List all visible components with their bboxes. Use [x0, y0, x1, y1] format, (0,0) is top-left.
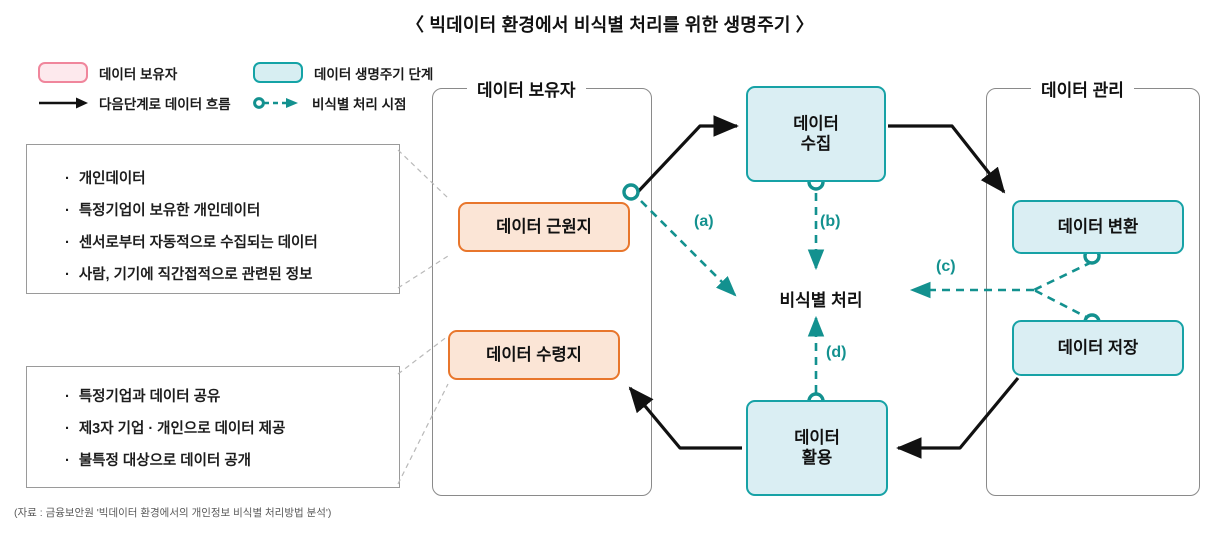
node-label: 데이터 수령지	[486, 345, 582, 365]
list-item: 개인데이터	[65, 167, 399, 188]
list-item: 사람, 기기에 직간접적으로 관련된 정보	[65, 263, 399, 284]
legend-item-data-owner: 데이터 보유자	[38, 62, 177, 83]
list-item: 불특정 대상으로 데이터 공개	[65, 449, 399, 470]
legend-item-data-flow: 다음단계로 데이터 흐름	[38, 93, 231, 113]
step-label-a: (a)	[694, 213, 714, 231]
node-label: 데이터 활용	[794, 428, 840, 468]
legend-label-lifecycle-stage: 데이터 생명주기 단계	[314, 63, 433, 83]
node-data-storage[interactable]: 데이터 저장	[1012, 320, 1184, 376]
step-label-b: (b)	[820, 213, 840, 231]
legend-item-lifecycle-stage: 데이터 생명주기 단계	[253, 62, 433, 83]
legend-label-deid-point: 비식별 처리 시점	[312, 93, 406, 113]
pink-rounded-box-swatch-icon	[38, 62, 88, 83]
step-label-c: (c)	[936, 258, 956, 276]
callout-data-receiver-details: 특정기업과 데이터 공유 제3자 기업 · 개인으로 데이터 제공 불특정 대상…	[26, 366, 400, 488]
list-item: 제3자 기업 · 개인으로 데이터 제공	[65, 417, 399, 438]
legend-item-deid-point: 비식별 처리 시점	[253, 93, 406, 113]
node-label-line1: 데이터	[793, 115, 839, 133]
node-label: 데이터 저장	[1058, 338, 1138, 358]
node-data-transformation[interactable]: 데이터 변환	[1012, 200, 1184, 254]
node-label: 데이터 근원지	[496, 217, 592, 237]
legend-label-data-owner: 데이터 보유자	[99, 63, 177, 83]
node-label: 데이터 수집	[793, 114, 839, 154]
group-title-data-management: 데이터 관리	[1031, 76, 1134, 101]
list-item: 특정기업이 보유한 개인데이터	[65, 199, 399, 220]
node-label-line2: 수집	[801, 135, 831, 153]
list-item: 특정기업과 데이터 공유	[65, 385, 399, 406]
deid-arrow-a	[641, 201, 735, 295]
legend-label-data-flow: 다음단계로 데이터 흐름	[99, 93, 231, 113]
page-title: 〈 빅데이터 환경에서 비식별 처리를 위한 생명주기 〉	[0, 11, 1220, 37]
group-frame-data-owner: 데이터 보유자	[432, 88, 652, 496]
callout-data-source-details: 개인데이터 특정기업이 보유한 개인데이터 센서로부터 자동적으로 수집되는 데…	[26, 144, 400, 294]
node-data-utilization[interactable]: 데이터 활용	[746, 400, 888, 496]
list-item: 센서로부터 자동적으로 수집되는 데이터	[65, 231, 399, 252]
step-label-d: (d)	[826, 344, 846, 362]
node-label-line1: 데이터	[794, 429, 840, 447]
center-label-deidentification: 비식별 처리	[746, 286, 896, 311]
legend: 데이터 보유자 데이터 생명주기 단계 다음단계로 데이터 흐름 비식별 처리 …	[38, 62, 468, 120]
source-citation: (자료 : 금융보안원 '빅데이터 환경에서의 개인정보 비식별 처리방법 분석…	[14, 505, 331, 520]
black-solid-arrow-icon	[38, 96, 88, 110]
group-frame-data-management: 데이터 관리	[986, 88, 1200, 496]
node-data-receiver[interactable]: 데이터 수령지	[448, 330, 620, 380]
node-label-line2: 활용	[802, 449, 832, 467]
group-title-data-owner: 데이터 보유자	[467, 76, 586, 101]
teal-rounded-box-swatch-icon	[253, 62, 303, 83]
node-data-collection[interactable]: 데이터 수집	[746, 86, 886, 182]
teal-dashed-arrow-with-circle-icon	[253, 96, 301, 110]
node-label: 데이터 변환	[1058, 217, 1138, 237]
node-data-source[interactable]: 데이터 근원지	[458, 202, 630, 252]
